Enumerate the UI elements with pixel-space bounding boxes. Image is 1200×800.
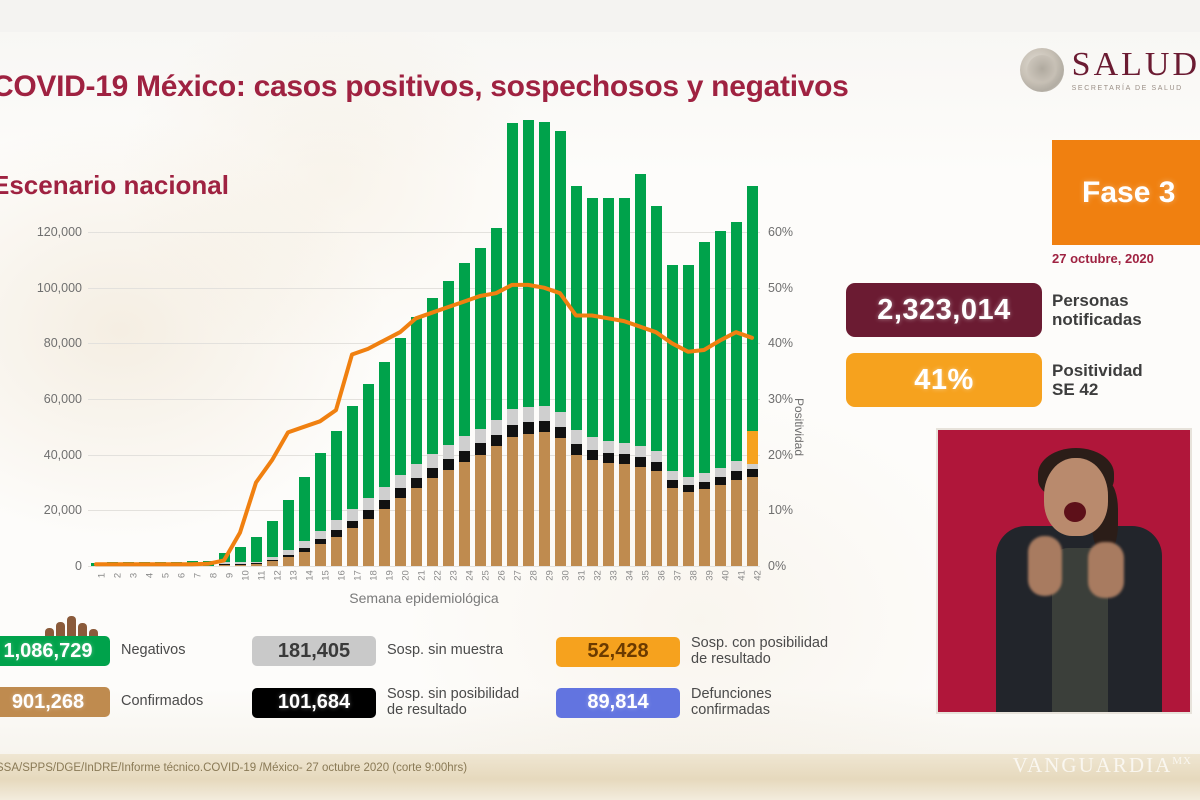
phase-label: Fase 3 — [1082, 176, 1175, 210]
legend-label-line1: Confirmados — [121, 694, 203, 710]
x-axis-tick: 41 — [737, 565, 748, 587]
x-axis-tick: 27 — [513, 565, 524, 587]
x-axis-title: Semana epidemiológica — [88, 590, 760, 606]
legend-label-line1: Defunciones — [691, 687, 772, 703]
x-axis-tick: 18 — [369, 565, 380, 587]
legend-label-line1: Sosp. con posibilidad — [691, 636, 828, 652]
legend-item-sosp-con-posibilidad: 52,428 Sosp. con posibilidad de resultad… — [556, 636, 828, 668]
stat-value: 41% — [914, 364, 974, 397]
legend-value: 52,428 — [587, 640, 648, 663]
x-axis-tick: 26 — [497, 565, 508, 587]
x-axis-tick: 25 — [481, 565, 492, 587]
legend-label-line1: Sosp. sin posibilidad — [387, 687, 519, 703]
y-axis-tick: 0 — [75, 559, 82, 573]
y-axis-tick: 100,000 — [37, 281, 82, 295]
x-axis-tick: 5 — [161, 565, 172, 587]
x-axis-tick: 31 — [577, 565, 588, 587]
y-axis-tick: 120,000 — [37, 225, 82, 239]
legend-value-box: 52,428 — [556, 637, 680, 667]
legend-label: Sosp. con posibilidad de resultado — [691, 636, 828, 668]
secondary-y-axis-tick: 50% — [768, 281, 793, 295]
x-axis-tick: 29 — [545, 565, 556, 587]
sign-language-interpreter-video[interactable] — [936, 428, 1192, 714]
x-axis-tick: 23 — [449, 565, 460, 587]
legend-label: Negativos — [121, 643, 185, 659]
page-title: COVID-19 México: casos positivos, sospec… — [0, 70, 992, 104]
salud-logo-text: SALUD SECRETARÍA DE SALUD — [1072, 48, 1200, 92]
legend-label: Sosp. sin muestra — [387, 643, 503, 659]
x-axis-tick: 1 — [97, 565, 108, 587]
source-citation: SSA/SPPS/DGE/InDRE/Informe técnico.COVID… — [0, 762, 467, 774]
positividad-polyline — [96, 285, 752, 564]
legend-label-line1: Negativos — [121, 643, 185, 659]
positividad-line — [88, 232, 760, 566]
legend-item-defunciones: 89,814 Defunciones confirmadas — [556, 687, 772, 719]
x-axis-tick: 11 — [257, 565, 268, 587]
x-axis-tick: 32 — [593, 565, 604, 587]
x-axis-tick: 13 — [289, 565, 300, 587]
epidemic-curve-chart: 020,00040,00060,00080,000100,000120,000 … — [0, 218, 830, 618]
x-axis-tick: 22 — [433, 565, 444, 587]
legend-value-box: 901,268 — [0, 687, 110, 717]
interpreter-right-hand — [1088, 542, 1124, 598]
chart-plot-area: 1234567891011121314151617181920212223242… — [88, 232, 760, 566]
presentation-slide: COVID-19 México: casos positivos, sospec… — [0, 0, 1200, 800]
legend-item-sosp-sin-muestra: 181,405 Sosp. sin muestra — [252, 636, 503, 666]
x-axis-tick: 15 — [321, 565, 332, 587]
legend-item-sosp-sin-posibilidad: 101,684 Sosp. sin posibilidad de resulta… — [252, 687, 519, 719]
mexico-eagle-icon — [1020, 48, 1064, 92]
x-axis-tick: 42 — [753, 565, 764, 587]
x-axis-tick: 30 — [561, 565, 572, 587]
legend-value-box: 181,405 — [252, 636, 376, 666]
secondary-y-axis-tick: 60% — [768, 225, 793, 239]
legend-value-box: 101,684 — [252, 688, 376, 718]
x-axis-tick: 35 — [641, 565, 652, 587]
legend-label: Sosp. sin posibilidad de resultado — [387, 687, 519, 719]
x-axis-tick: 24 — [465, 565, 476, 587]
x-axis-tick: 12 — [273, 565, 284, 587]
legend-item-negativos: 1,086,729 Negativos — [0, 636, 185, 666]
stat-positividad: 41% Positividad SE 42 — [846, 353, 1143, 407]
stat-label: Personas notificadas — [1052, 291, 1142, 329]
secondary-y-axis-title: Positividad — [792, 398, 806, 456]
x-axis-tick: 39 — [705, 565, 716, 587]
y-axis-tick: 60,000 — [44, 392, 82, 406]
stat-label-line1: Personas — [1052, 291, 1142, 310]
interpreter-mouth — [1064, 502, 1086, 522]
x-axis-tick: 16 — [337, 565, 348, 587]
x-axis-tick: 28 — [529, 565, 540, 587]
x-axis-tick: 14 — [305, 565, 316, 587]
x-axis-tick: 21 — [417, 565, 428, 587]
x-axis-tick: 10 — [241, 565, 252, 587]
x-axis-tick: 9 — [225, 565, 236, 587]
legend-label-line2: de resultado — [691, 652, 828, 668]
legend-value-box: 89,814 — [556, 688, 680, 718]
legend-value: 101,684 — [278, 691, 350, 714]
legend-value-box: 1,086,729 — [0, 636, 110, 666]
y-axis-tick: 20,000 — [44, 503, 82, 517]
x-axis-tick: 2 — [113, 565, 124, 587]
x-axis-tick: 3 — [129, 565, 140, 587]
y-axis-tick: 40,000 — [44, 448, 82, 462]
x-axis-tick: 36 — [657, 565, 668, 587]
salud-logo-subtitle: SECRETARÍA DE SALUD — [1072, 85, 1200, 92]
salud-logo-title: SALUD — [1072, 48, 1200, 82]
stat-value-box: 2,323,014 — [846, 283, 1042, 337]
legend-item-confirmados: 901,268 Confirmados — [0, 687, 203, 717]
interpreter-left-hand — [1028, 536, 1062, 596]
secondary-y-axis-tick: 30% — [768, 392, 793, 406]
watermark-text: VANGUARDIA — [1013, 753, 1173, 777]
x-axis-tick: 37 — [673, 565, 684, 587]
secondary-y-axis-tick: 0% — [768, 559, 786, 573]
page-subtitle: Escenario nacional — [0, 170, 229, 201]
legend-label: Confirmados — [121, 694, 203, 710]
x-axis-tick: 17 — [353, 565, 364, 587]
y-axis-tick: 80,000 — [44, 336, 82, 350]
secondary-y-axis-tick: 40% — [768, 336, 793, 350]
secondary-y-axis-tick: 20% — [768, 448, 793, 462]
stat-value: 2,323,014 — [877, 294, 1011, 327]
x-axis-tick: 34 — [625, 565, 636, 587]
watermark: VANGUARDIAMX — [1013, 753, 1192, 778]
x-axis-tick: 4 — [145, 565, 156, 587]
legend-label: Defunciones confirmadas — [691, 687, 772, 719]
x-axis-tick: 38 — [689, 565, 700, 587]
legend-value: 1,086,729 — [4, 640, 93, 663]
report-date: 27 octubre, 2020 — [1052, 251, 1154, 266]
x-axis-tick: 33 — [609, 565, 620, 587]
watermark-suffix: MX — [1172, 755, 1192, 767]
x-axis-tick: 20 — [401, 565, 412, 587]
legend-value: 181,405 — [278, 640, 350, 663]
x-axis-tick: 7 — [193, 565, 204, 587]
legend-value: 901,268 — [12, 691, 84, 714]
phase-badge: Fase 3 — [1052, 140, 1200, 245]
x-axis-tick: 40 — [721, 565, 732, 587]
x-axis-tick: 8 — [209, 565, 220, 587]
stat-label-line1: Positividad — [1052, 361, 1143, 380]
x-axis-tick: 19 — [385, 565, 396, 587]
legend-label-line2: de resultado — [387, 703, 519, 719]
legend-label-line1: Sosp. sin muestra — [387, 643, 503, 659]
legend-value: 89,814 — [587, 691, 648, 714]
legend-label-line2: confirmadas — [691, 703, 772, 719]
stat-label-line2: notificadas — [1052, 310, 1142, 329]
stat-label-line2: SE 42 — [1052, 380, 1143, 399]
salud-logo: SALUD SECRETARÍA DE SALUD — [1020, 48, 1200, 92]
secondary-y-axis-tick: 10% — [768, 503, 793, 517]
stat-value-box: 41% — [846, 353, 1042, 407]
interpreter-head — [1044, 458, 1108, 536]
stat-label: Positividad SE 42 — [1052, 361, 1143, 399]
x-axis-tick: 6 — [177, 565, 188, 587]
stat-personas-notificadas: 2,323,014 Personas notificadas — [846, 283, 1142, 337]
background-top-strip — [0, 0, 1200, 32]
